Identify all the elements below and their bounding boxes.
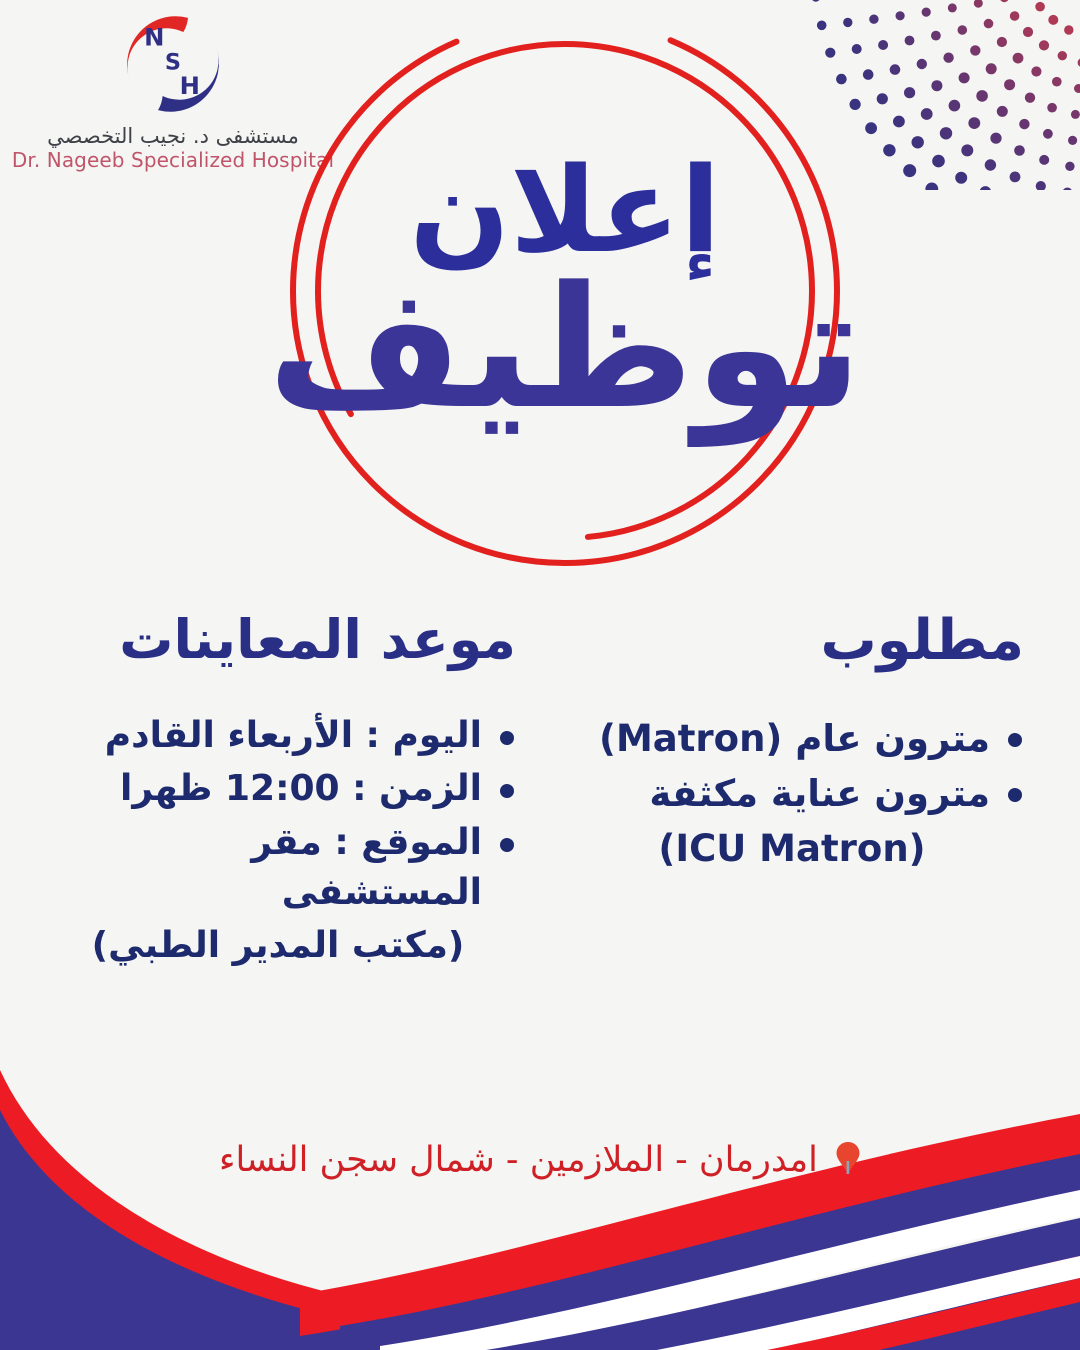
svg-text:N: N <box>144 22 164 51</box>
list-item: الموقع : مقر المستشفى <box>40 818 516 917</box>
hero-title-area: إعلان توظيف <box>282 8 848 574</box>
location-pin-icon <box>835 1141 861 1184</box>
hero-title-text: إعلان توظيف <box>282 8 848 574</box>
dot-pattern-decoration <box>810 0 1080 190</box>
svg-text:S: S <box>165 50 181 76</box>
schedule-heading: موعد المعاينات <box>40 612 516 669</box>
title-line-recruitment: توظيف <box>267 271 862 426</box>
required-positions-list: مترون عام (Matron) مترون عناية مكثفة <box>560 713 1024 819</box>
list-item: الزمن : 12:00 ظهرا <box>40 764 516 814</box>
schedule-details-list: اليوم : الأربعاء القادم الزمن : 12:00 ظه… <box>40 711 516 918</box>
title-line-announcement: إعلان <box>409 156 720 265</box>
icu-matron-subline: (ICU Matron) <box>560 823 1024 874</box>
footer-address-line: امدرمان - الملازمين - شمال سجن النساء <box>0 1140 1080 1184</box>
required-heading: مطلوب <box>560 612 1024 671</box>
required-positions-column: مطلوب مترون عام (Matron) مترون عناية مكث… <box>540 612 1080 971</box>
svg-text:H: H <box>180 71 200 100</box>
bottom-wave-decoration <box>0 1050 1080 1350</box>
interview-schedule-column: موعد المعاينات اليوم : الأربعاء القادم ا… <box>0 612 540 971</box>
list-item: مترون عناية مكثفة <box>560 768 1024 819</box>
list-item: اليوم : الأربعاء القادم <box>40 711 516 761</box>
list-item: مترون عام (Matron) <box>560 713 1024 764</box>
footer-address-text: امدرمان - الملازمين - شمال سجن النساء <box>219 1140 818 1180</box>
recruitment-poster: N S H مستشفى د. نجيب التخصصي Dr. Nageeb … <box>0 0 1080 1350</box>
nsh-logo-icon: N S H <box>117 8 229 120</box>
location-subline: (مكتب المدير الطبي) <box>40 921 516 971</box>
content-columns: مطلوب مترون عام (Matron) مترون عناية مكث… <box>0 612 1080 971</box>
